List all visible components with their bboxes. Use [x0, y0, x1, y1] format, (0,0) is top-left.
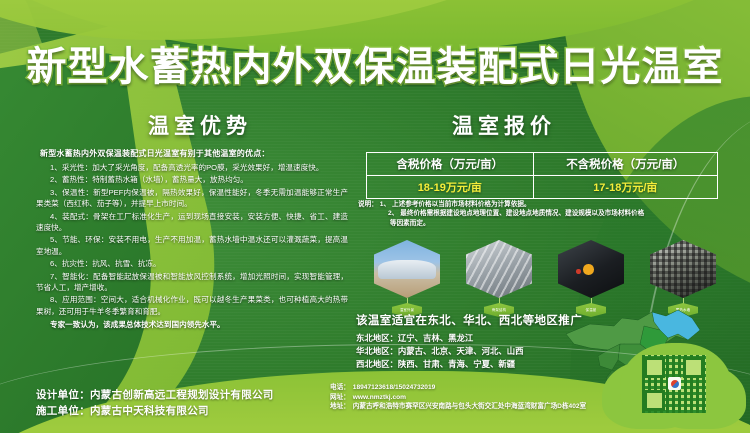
- note-text: 最终价格需根据建设地点地理位置、建设地点地质情况、建设规模以及市场材料价格: [400, 209, 644, 218]
- photo-item-greenhouse-exterior[interactable]: 温室外景: [374, 240, 446, 298]
- note-label: 说明：: [358, 200, 378, 209]
- footer-website-label: 网址：: [330, 393, 350, 403]
- footer-units: 设计单位：内蒙古创新高远工程规划设计有限公司 施工单位：内蒙古中天科技有限公司: [36, 387, 274, 419]
- advantages-list: 1、采光性：加大了采光角度，配备高透光率的PO膜，采光效果好，增温速度快。 2、…: [36, 162, 348, 317]
- footer-phone-label: 电话：: [330, 383, 350, 393]
- note-row: 2、 最终价格需根据建设地点地理位置、建设地点地质情况、建设规模以及市场材料价格: [358, 209, 743, 218]
- advantage-item: 7、智能化：配备智能起放保温被和智能放风控制系统，增加光照时间，实现智能管理，节…: [36, 271, 348, 294]
- poster-canvas: 新型水蓄热内外双保温装配式日光温室 温室优势 温室报价 新型水蓄热内外双保温装配…: [0, 0, 750, 433]
- section-heading-price: 温室报价: [452, 110, 556, 140]
- photo-item-frame-structure[interactable]: 骨架结构: [466, 240, 538, 298]
- footer-website-row: 网址： www.nmztkj.com: [330, 393, 586, 403]
- hex-photo-frame: [650, 240, 716, 298]
- insulation-blanket-image: [558, 240, 624, 298]
- heat-storage-wall-image: [650, 240, 716, 298]
- table-row: 含税价格（万元/亩） 不含税价格（万元/亩）: [367, 153, 718, 176]
- hex-photo-frame: [466, 240, 532, 298]
- footer: 设计单位：内蒙古创新高远工程规划设计有限公司 施工单位：内蒙古中天科技有限公司 …: [0, 377, 750, 433]
- price-table: 含税价格（万元/亩） 不含税价格（万元/亩） 18-19万元/亩 17-18万元…: [366, 152, 718, 199]
- price-value-with-tax: 18-19万元/亩: [367, 176, 534, 199]
- poster-title-wrap: 新型水蓄热内外双保温装配式日光温室: [0, 34, 750, 92]
- advantages-panel: 新型水蓄热内外双保温装配式日光温室有别于其他温室的优点： 1、采光性：加大了采光…: [36, 148, 348, 353]
- qr-finder-top-right: [683, 357, 704, 378]
- hex-photo-frame: [374, 240, 440, 298]
- footer-website-value[interactable]: www.nmztkj.com: [353, 393, 406, 403]
- frame-structure-image: [466, 240, 532, 298]
- footer-address-row: 地址： 内蒙古呼和浩特市赛罕区兴安南路与包头大街交汇处中海蓝湾财富广场D栋402…: [330, 402, 586, 412]
- advantage-item: 3、保温性：新型PEF内保温被，隔热效果好，保温性能好，冬季无需加温能够正常生产…: [36, 187, 348, 210]
- poster-title: 新型水蓄热内外双保温装配式日光温室: [27, 34, 724, 92]
- footer-address-value: 内蒙古呼和浩特市赛罕区兴安南路与包头大街交汇处中海蓝湾财富广场D栋402室: [353, 402, 586, 412]
- advantage-item: 1、采光性：加大了采光角度，配备高透光率的PO膜，采光效果好，增温速度快。: [36, 162, 348, 173]
- advantage-item: 2、蓄热性：特制蓄热水箱（水墙），蓄热量大，放热均匀。: [36, 174, 348, 185]
- note-index: 1、: [380, 200, 390, 209]
- note-row: 等因素而定。: [358, 219, 743, 228]
- photo-item-insulation-blanket[interactable]: 保温被: [558, 240, 630, 298]
- section-heading-advantages: 温室优势: [148, 110, 252, 140]
- advantage-item: 6、抗灾性：抗风、抗雪、抗冻。: [36, 258, 348, 269]
- qr-finder-top-left: [644, 357, 665, 378]
- price-header-with-tax: 含税价格（万元/亩）: [367, 153, 534, 176]
- price-note: 说明： 1、 上述参考价格以当前市场材料价格为计算依据。 2、 最终价格需根据建…: [358, 200, 743, 228]
- note-text: 上述参考价格以当前市场材料价格为计算依据。: [392, 200, 530, 209]
- advantage-item: 4、装配式：骨架在工厂标准化生产，运到现场直接安装，安装方便、快捷、省工、建造速…: [36, 211, 348, 234]
- price-header-without-tax: 不含税价格（万元/亩）: [533, 153, 717, 176]
- photo-item-heat-storage-wall[interactable]: 蓄热水墙: [650, 240, 722, 298]
- advantage-item: 8、应用范围：空间大，适合机械化作业，既可以越冬生产果菜类，也可种植高大的热带果…: [36, 294, 348, 317]
- greenhouse-exterior-image: [374, 240, 440, 298]
- table-row: 18-19万元/亩 17-18万元/亩: [367, 176, 718, 199]
- note-index: 2、: [388, 209, 398, 218]
- footer-phone-value: 18947123618/15024732019: [353, 383, 436, 393]
- footer-construction-unit: 施工单位：内蒙古中天科技有限公司: [36, 403, 274, 419]
- advantages-conclusion: 专家一致认为，该成果总体技术达到国内领先水平。: [36, 319, 348, 330]
- footer-design-unit: 设计单位：内蒙古创新高远工程规划设计有限公司: [36, 387, 274, 403]
- footer-contacts: 电话： 18947123618/15024732019 网址： www.nmzt…: [330, 383, 586, 412]
- hex-photo-frame: [558, 240, 624, 298]
- footer-phone-row: 电话： 18947123618/15024732019: [330, 383, 586, 393]
- note-text: 等因素而定。: [390, 219, 430, 228]
- photo-strip: 温室外景 骨架结构 保温被 蓄热水墙: [374, 240, 734, 306]
- advantages-title: 新型水蓄热内外双保温装配式日光温室有别于其他温室的优点：: [40, 148, 348, 159]
- note-row: 说明： 1、 上述参考价格以当前市场材料价格为计算依据。: [358, 200, 743, 209]
- advantage-item: 5、节能、环保：安装不用电，生产不用加温，蓄热水墙中温水还可以灌溉蔬菜，提高温室…: [36, 234, 348, 257]
- footer-address-label: 地址：: [330, 402, 350, 412]
- price-value-without-tax: 17-18万元/亩: [533, 176, 717, 199]
